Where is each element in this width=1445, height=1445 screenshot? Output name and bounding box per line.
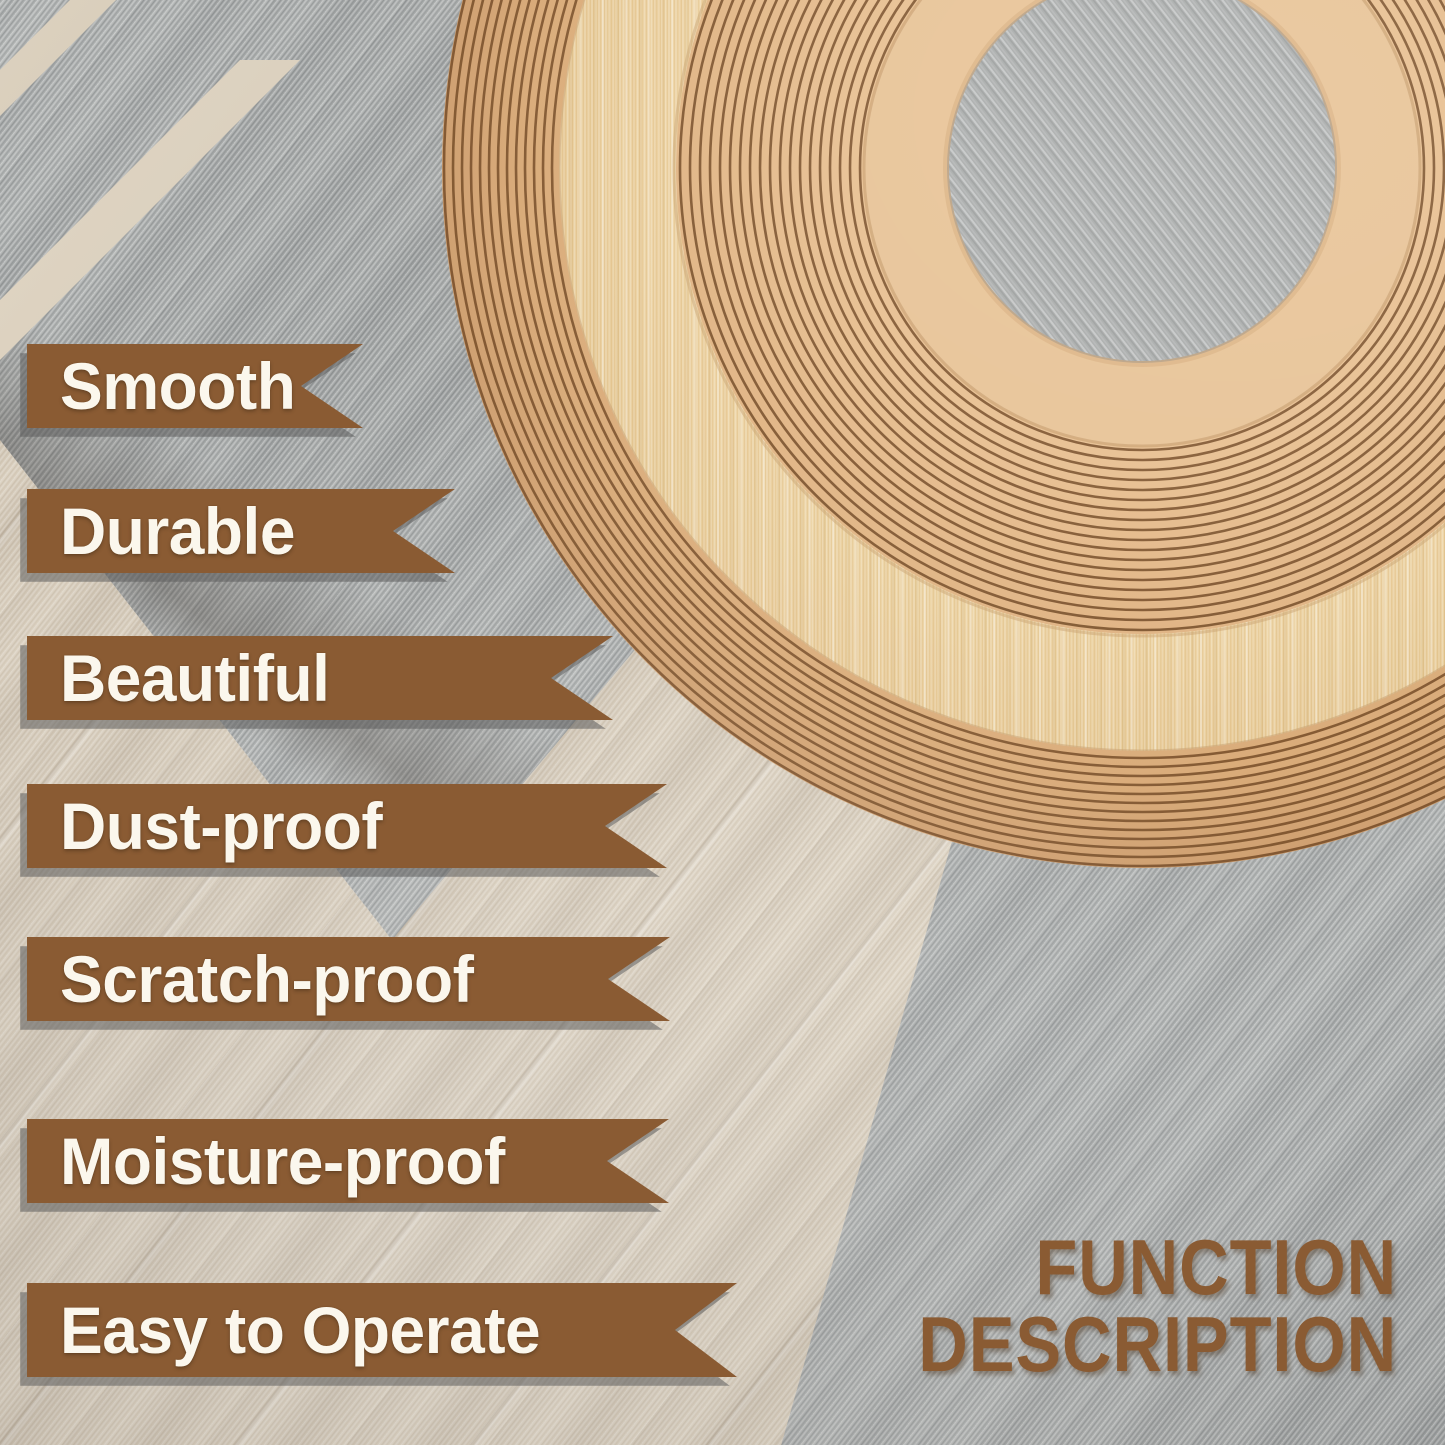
feature-ribbon: Smooth — [27, 344, 363, 428]
ribbon-label: Beautiful — [27, 645, 329, 711]
ribbon-label: Scratch-proof — [27, 946, 473, 1012]
feature-ribbon: Dust-proof — [27, 784, 667, 868]
product-feature-graphic: Smooth Durable Beautiful Dust-proof Scra… — [0, 0, 1445, 1445]
feature-ribbon: Scratch-proof — [27, 937, 670, 1021]
feature-ribbon: Beautiful — [27, 636, 613, 720]
heading-line-1: FUNCTION — [918, 1229, 1397, 1306]
feature-ribbon: Easy to Operate — [27, 1283, 737, 1377]
ribbon-label: Smooth — [27, 353, 295, 419]
feature-ribbon: Moisture-proof — [27, 1119, 669, 1203]
heading-line-2: DESCRIPTION — [918, 1306, 1397, 1383]
ribbon-label: Moisture-proof — [27, 1128, 505, 1194]
ribbon-label: Easy to Operate — [27, 1297, 540, 1363]
function-description-heading: FUNCTION DESCRIPTION — [853, 1229, 1397, 1383]
ribbon-label: Durable — [27, 498, 295, 564]
ribbon-label: Dust-proof — [27, 793, 382, 859]
feature-ribbon: Durable — [27, 489, 455, 573]
